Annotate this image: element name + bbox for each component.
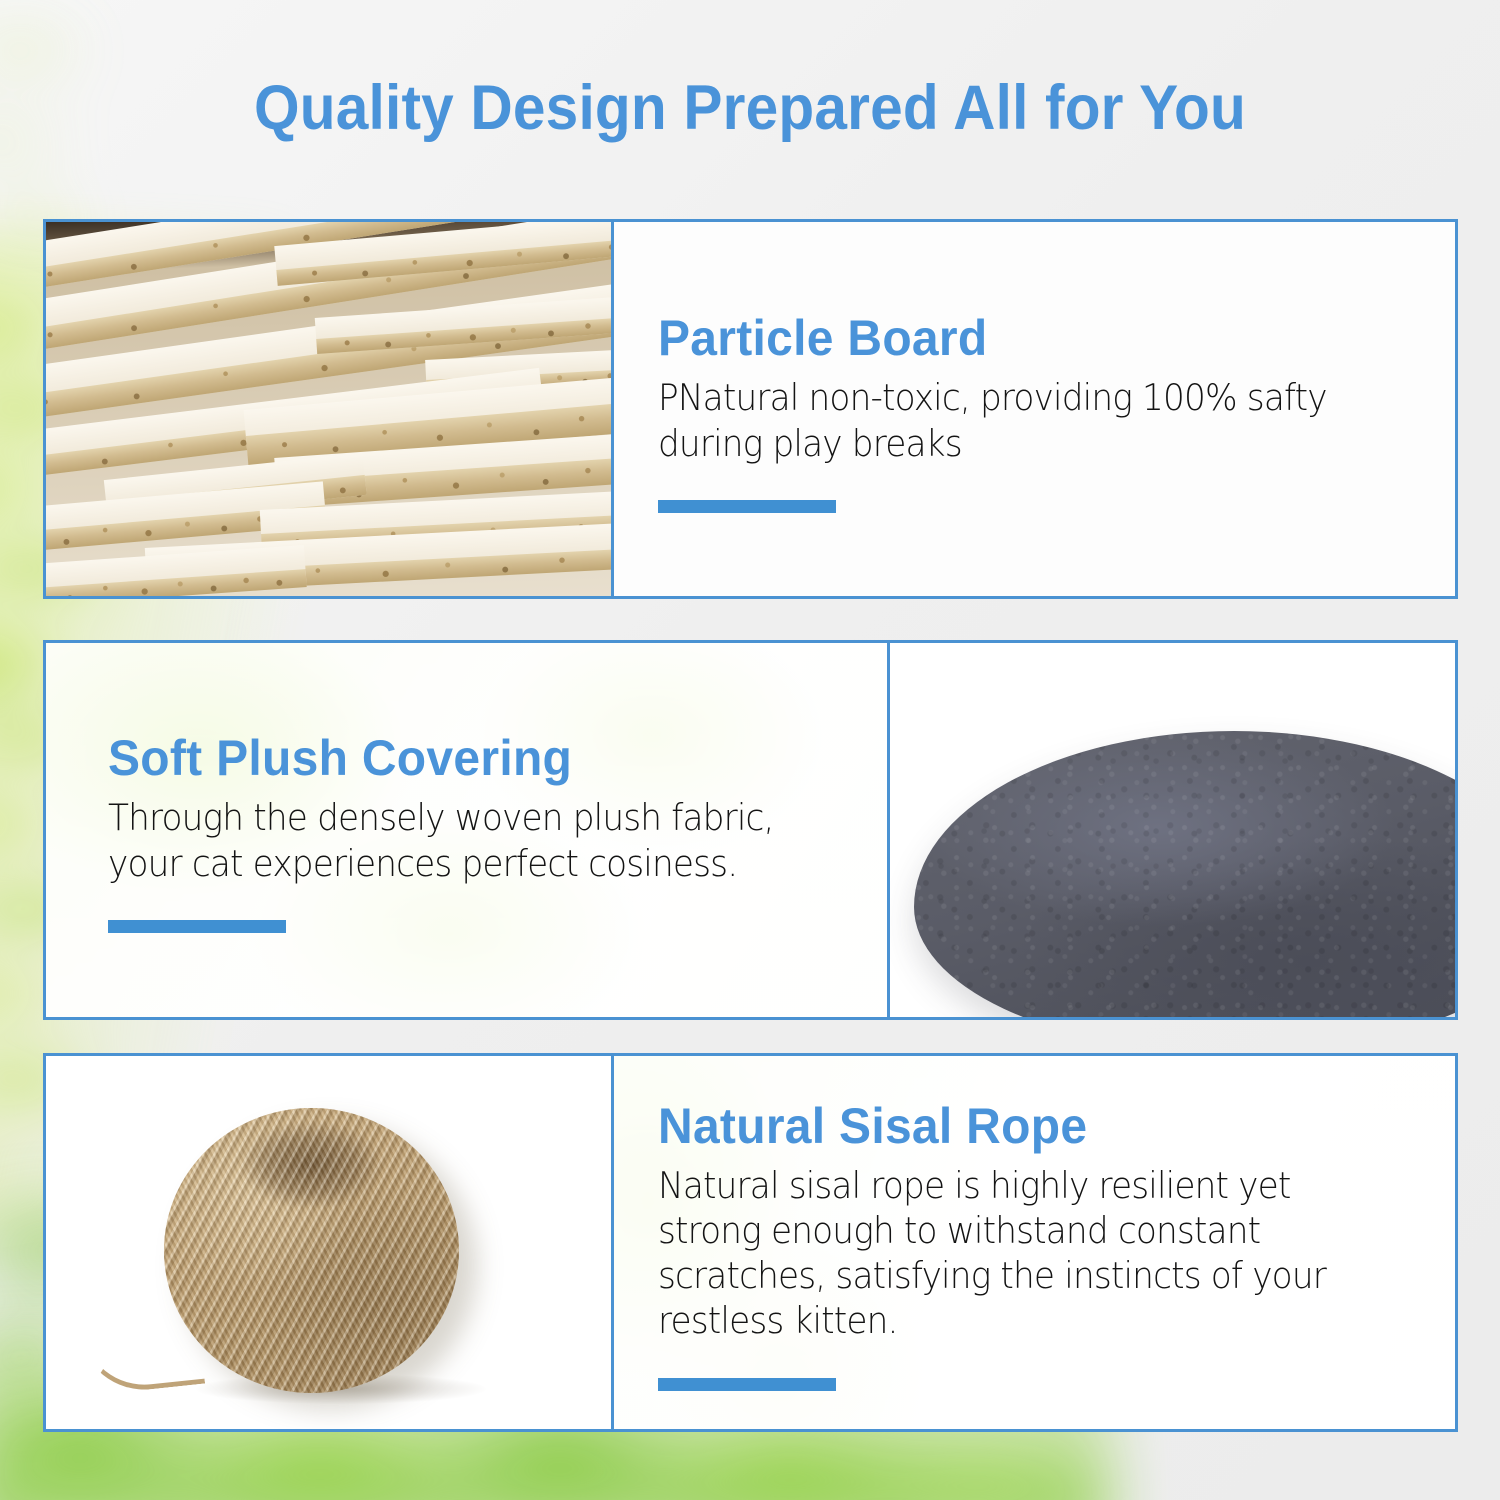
sisal-rope-image-pane [46,1056,611,1429]
plush-disc-shape [914,731,1455,1017]
rope-ball-shape [164,1108,459,1393]
card-title-natural-sisal-rope: Natural Sisal Rope [658,1097,1423,1155]
sisal-rope-text-pane: Natural Sisal Rope Natural sisal rope is… [614,1056,1455,1429]
accent-bar [658,1378,836,1391]
particle-board-stack-image [46,222,611,596]
feature-card-soft-plush-covering: Soft Plush Covering Through the densely … [43,640,1458,1020]
card-body-soft-plush-covering: Through the densely woven plush fabric, … [108,795,785,886]
accent-bar [658,500,836,513]
feature-card-natural-sisal-rope: Natural Sisal Rope Natural sisal rope is… [43,1053,1458,1432]
card-divider [887,643,890,1017]
rope-loose-strand [79,1318,205,1396]
card-body-natural-sisal-rope: Natural sisal rope is highly resilient y… [658,1163,1401,1344]
soft-plush-text-pane: Soft Plush Covering Through the densely … [46,643,887,1017]
accent-bar [108,920,286,933]
feature-card-particle-board: Particle Board PNatural non-toxic, provi… [43,219,1458,599]
sisal-rope-ball-image [46,1056,611,1429]
card-body-particle-board: PNatural non-toxic, providing 100% safty… [658,375,1382,466]
card-divider [611,1056,614,1429]
card-divider [611,222,614,596]
particle-board-text-pane: Particle Board PNatural non-toxic, provi… [614,222,1455,596]
card-title-particle-board: Particle Board [658,309,1423,367]
card-title-soft-plush-covering: Soft Plush Covering [108,729,856,787]
infographic-page: Quality Design Prepared All for You [0,0,1500,1500]
particle-board-image-pane [46,222,611,596]
plush-fabric-disc-image [890,643,1455,1017]
plush-image-pane [890,643,1455,1017]
page-title: Quality Design Prepared All for You [53,72,1448,144]
